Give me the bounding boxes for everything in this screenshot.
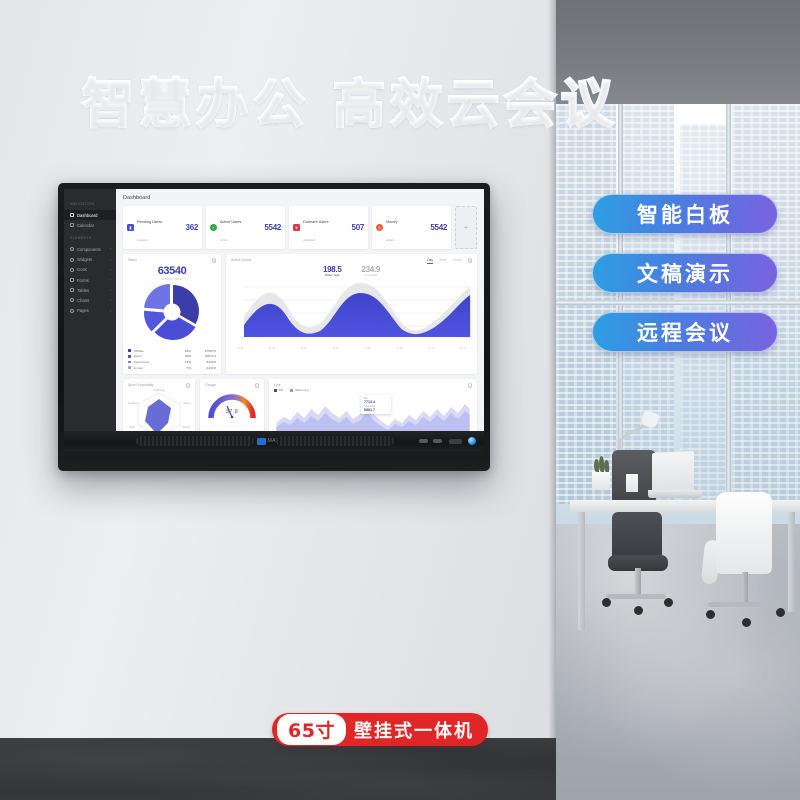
stat-card-pending-users[interactable]: ▮ Pending Users Awaiting 362 (123, 206, 202, 249)
stat-label: Active Users (220, 220, 241, 224)
chevron-right-icon: › (110, 258, 111, 262)
sales-card: Sales 63540 MORE INFO (123, 254, 221, 374)
white-chair-base (708, 602, 782, 607)
gauge-value: 37.8 (200, 409, 264, 415)
badge-size-label: 65寸 (277, 714, 346, 745)
x-axis-labels: 01-04 01-05 01-06 01-07 01-08 01-09 01-1… (231, 347, 472, 350)
laptop-base (648, 490, 702, 498)
card-title: Line (274, 383, 472, 387)
interactive-flat-panel-display[interactable]: NAVIGATION Dashboard Calendar ELEMENTS C… (58, 183, 490, 471)
sidebar-item-icons[interactable]: Icons › (64, 265, 116, 275)
tab-day[interactable]: Day (427, 258, 433, 264)
sidebar-item-pages[interactable]: Pages › (64, 306, 116, 316)
product-badge: 65寸 壁挂式一体机 (272, 713, 488, 746)
chevron-right-icon: › (110, 278, 111, 282)
tab-month[interactable]: Month (453, 258, 462, 264)
display-screen[interactable]: NAVIGATION Dashboard Calendar ELEMENTS C… (64, 189, 484, 451)
caster (634, 606, 643, 615)
radar-axis-label: Training (154, 388, 165, 392)
volume-up-button[interactable] (433, 439, 442, 443)
chevron-right-icon: › (110, 288, 111, 292)
heart-icon: ♥ (293, 224, 300, 231)
stat-label: Pending Users (137, 220, 162, 224)
legend-percent: 44% (179, 349, 191, 353)
sidebar-item-dashboard[interactable]: Dashboard (64, 210, 116, 220)
legend-percent: 13% (179, 360, 191, 364)
tooltip-series-value: 7713.4 (364, 400, 388, 404)
tooltip-series-value: 5881.7 (364, 408, 388, 412)
sidebar-item-widgets[interactable]: Widgets › (64, 255, 116, 265)
gear-icon[interactable] (468, 383, 473, 388)
legend-label: Sponsored (134, 360, 176, 364)
home-icon (70, 213, 74, 217)
caster (664, 598, 673, 607)
sidebar-section-elements: ELEMENTS (64, 236, 116, 240)
white-chair-post (742, 572, 748, 604)
card-title: Sales (128, 258, 216, 262)
sidebar-item-label: Components (77, 247, 101, 252)
sidebar-item-tables[interactable]: Tables › (64, 285, 116, 295)
x-tick: 01-06 (301, 347, 307, 350)
x-tick: 01-09 (396, 347, 402, 350)
stat-value: 5542 (264, 223, 281, 232)
sidebar-item-label: Pages (77, 308, 89, 313)
pages-icon (70, 309, 74, 313)
sidebar-item-forms[interactable]: Forms › (64, 275, 116, 285)
chart-tooltip: Bid 7713.4 Swimming 5881.7 (361, 395, 391, 414)
gear-icon[interactable] (212, 258, 217, 263)
sidebar-item-charts[interactable]: Charts › (64, 295, 116, 305)
desk-leg-left (578, 512, 585, 630)
stat-sublabel: undefined (303, 238, 315, 242)
stat-sublabel: online (220, 238, 227, 242)
stat-value: 362 (186, 223, 198, 232)
gear-icon[interactable] (255, 383, 260, 388)
white-chair-backrest (716, 492, 772, 574)
sidebar-item-label: Charts (77, 298, 89, 303)
feature-pill-list: 智能白板 文稿演示 远程会议 (592, 194, 778, 352)
power-led-indicator[interactable] (468, 437, 476, 445)
stat-card-money[interactable]: $ Money dollars 5542 (372, 206, 451, 249)
radar-axis-label: Running (183, 425, 190, 429)
tab-week[interactable]: Week (439, 258, 447, 264)
widgets-icon (70, 258, 74, 262)
brand-mark-icon (257, 438, 266, 445)
x-tick: 01-08 (364, 347, 370, 350)
legend-row: E-mail 7% 4447.8 (128, 365, 216, 371)
laptop-screen (652, 451, 694, 493)
legend-label: Swimming (295, 388, 309, 392)
legend-row: Bid (274, 388, 283, 392)
sidebar-item-label: Calendar (77, 223, 94, 228)
dashboard-sidebar[interactable]: NAVIGATION Dashboard Calendar ELEMENTS C… (64, 189, 116, 451)
legend-label: Bid (279, 388, 283, 392)
legend-label: Direct (134, 354, 176, 358)
sidebar-section-navigation: NAVIGATION (64, 202, 116, 206)
sidebar-item-components[interactable]: Components › (64, 244, 116, 254)
components-icon (70, 247, 74, 251)
legend-label: Affiliate (134, 349, 176, 353)
add-card-button[interactable]: + (455, 206, 477, 249)
sidebar-item-label: Dashboard (77, 213, 98, 218)
stat-card-row: ▮ Pending Users Awaiting 362 ✓ Active Us… (123, 206, 477, 249)
caster (742, 618, 751, 627)
legend-row: Affiliate 44% 27957.8 (128, 348, 216, 354)
chevron-right-icon: › (110, 309, 111, 313)
gauge-chart (205, 387, 259, 421)
radar-axis-label: Soccer (183, 401, 190, 405)
chevron-right-icon: › (110, 268, 111, 272)
display-bottom-bezel: MAXHUB (64, 431, 484, 451)
dark-chair-post (635, 568, 641, 596)
speaker-grille-left (136, 436, 254, 446)
poster-canvas: 智慧办公 高效云会议 NAVIGATION Dashboard Calendar… (0, 0, 800, 800)
stat-card-active-users[interactable]: ✓ Active Users online 5542 (206, 206, 285, 249)
wall-floor (0, 738, 556, 800)
sidebar-item-label: Tables (77, 288, 89, 293)
dark-chair-base (606, 594, 666, 599)
x-tick: 01-07 (333, 347, 339, 350)
x-tick: 01-10 (428, 347, 434, 350)
sidebar-item-label: Icons (77, 267, 87, 272)
chart-range-tabs[interactable]: Day Week Month (427, 258, 462, 264)
caster (706, 610, 715, 619)
radar-axis-label: Golf (129, 425, 135, 429)
sidebar-item-label: Forms (77, 278, 89, 283)
caster (776, 608, 785, 617)
desk-leg-right (788, 512, 795, 612)
x-tick: 01-04 (237, 347, 243, 350)
dashboard-content: Dashboard ▮ Pending Users Awaiting 362 ✓ (116, 189, 484, 451)
page-title: Dashboard (123, 195, 477, 201)
sidebar-item-calendar[interactable]: Calendar (64, 220, 116, 230)
legend-percent: 36% (179, 354, 191, 358)
legend-amount: 8260.8 (194, 360, 216, 364)
source-button[interactable] (449, 439, 462, 444)
caster (602, 598, 611, 607)
speaker-grille-right (276, 436, 394, 446)
x-tick: 01-05 (269, 347, 275, 350)
legend-row: Direct 36% 22874.4 (128, 354, 216, 360)
plant-pot (592, 470, 610, 490)
legend-row: Swimming (290, 388, 309, 392)
radar-axis-label: Hockey (128, 401, 139, 405)
legend-amount: 27957.8 (194, 349, 216, 353)
sidebar-item-label: Widgets (77, 257, 92, 262)
feature-pill-document-presentation[interactable]: 文稿演示 (592, 253, 778, 293)
chevron-right-icon: › (110, 298, 111, 302)
calendar-icon (70, 223, 74, 227)
x-tick: 01-11 (460, 347, 466, 350)
card-title: Active Users (231, 258, 251, 262)
legend-swatch (128, 361, 131, 364)
legend-percent: 7% (179, 366, 191, 370)
stat-sublabel: Awaiting (137, 238, 148, 242)
badge-type-label: 壁挂式一体机 (354, 717, 474, 743)
volume-down-button[interactable] (419, 439, 428, 443)
pen-cup (626, 474, 638, 492)
feature-pill-smart-whiteboard[interactable]: 智能白板 (592, 194, 778, 234)
line-legend: Bid Swimming (274, 388, 472, 392)
feature-pill-remote-meeting[interactable]: 远程会议 (592, 312, 778, 352)
gear-icon[interactable] (468, 258, 473, 263)
active-users-card: Active Users Day Week Month 198.5 B (226, 254, 477, 374)
icons-icon (70, 268, 74, 272)
stat-label: Money (386, 220, 397, 224)
sales-donut-chart (128, 283, 216, 341)
stat-label: Dormant Users (303, 220, 329, 224)
charts-icon (70, 298, 74, 302)
legend-swatch (128, 355, 131, 358)
stat-sublabel: dollars (386, 238, 394, 242)
forms-icon (70, 278, 74, 282)
dollar-icon: $ (376, 224, 383, 231)
legend-swatch (290, 389, 293, 392)
charts-row-1: Sales 63540 MORE INFO (123, 254, 477, 374)
butter-total-caption: Butter Total (323, 273, 342, 277)
active-users-area-chart (231, 279, 472, 341)
legend-swatch (274, 389, 277, 392)
sales-more-info: MORE INFO (128, 277, 216, 281)
stat-card-dormant-users[interactable]: ♥ Dormant Users undefined 507 (289, 206, 368, 249)
check-icon: ✓ (210, 224, 217, 231)
tables-icon (70, 288, 74, 292)
headline: 智慧办公 高效云会议 (0, 62, 700, 137)
legend-label: E-mail (134, 366, 176, 370)
sales-value: 63540 (128, 265, 216, 277)
stat-value: 507 (352, 223, 364, 232)
legend-row: Sponsored 13% 8260.8 (128, 359, 216, 365)
legend-amount: 22874.4 (194, 354, 216, 358)
legend-amount: 4447.8 (194, 366, 216, 370)
stat-value: 5542 (430, 223, 447, 232)
chevron-right-icon: › (110, 247, 111, 251)
flag-icon: ▮ (127, 224, 134, 231)
legend-swatch (128, 349, 131, 352)
legend-swatch (128, 366, 131, 369)
gear-icon[interactable] (186, 383, 191, 388)
dark-chair-body (612, 512, 662, 560)
